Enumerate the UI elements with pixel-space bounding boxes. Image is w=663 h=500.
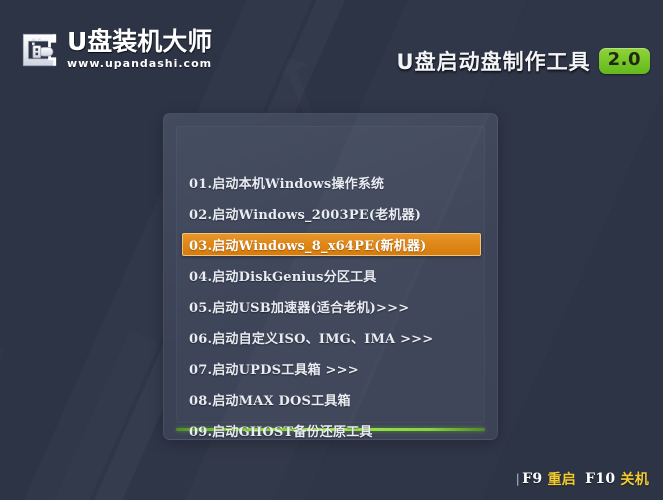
- boot-menu-item[interactable]: 04.启动DiskGenius分区工具: [182, 264, 481, 287]
- boot-menu-item[interactable]: 09.启动GHOST备份还原工具: [182, 419, 481, 440]
- reboot-key: F9: [522, 471, 542, 487]
- boot-menu-panel: 01.启动本机Windows操作系统02.启动Windows_2003PE(老机…: [163, 113, 498, 440]
- boot-menu-item[interactable]: 03.启动Windows_8_x64PE(新机器): [182, 233, 481, 256]
- boot-menu-list[interactable]: 01.启动本机Windows操作系统02.启动Windows_2003PE(老机…: [164, 114, 498, 440]
- product-title-group: U盘启动盘制作工具 2.0: [397, 46, 650, 76]
- version-badge: 2.0: [599, 48, 650, 74]
- boot-menu-item[interactable]: 01.启动本机Windows操作系统: [182, 171, 481, 194]
- footer-separator: |: [516, 472, 521, 486]
- shutdown-key: F10: [585, 471, 615, 487]
- boot-menu-screen: U盘装机大师 www.upandashi.com U盘启动盘制作工具 2.0 0…: [0, 0, 663, 500]
- usb-drive-icon: [18, 29, 60, 71]
- boot-menu-item[interactable]: 06.启动自定义ISO、IMG、IMA >>>: [182, 326, 481, 349]
- boot-menu-item[interactable]: 02.启动Windows_2003PE(老机器): [182, 202, 481, 225]
- boot-menu-item[interactable]: 08.启动MAX DOS工具箱: [182, 388, 481, 411]
- shutdown-label[interactable]: 关机: [620, 469, 649, 489]
- footer-hotkeys: | F9 重启 F10 关机: [516, 469, 650, 489]
- app-header: U盘装机大师 www.upandashi.com U盘启动盘制作工具 2.0: [0, 0, 663, 95]
- brand-name: U盘装机大师: [67, 29, 212, 55]
- page-title: U盘启动盘制作工具: [397, 46, 591, 76]
- brand-url: www.upandashi.com: [67, 57, 212, 70]
- boot-menu-item[interactable]: 05.启动USB加速器(适合老机)>>>: [182, 295, 481, 318]
- boot-menu-item[interactable]: 07.启动UPDS工具箱 >>>: [182, 357, 481, 380]
- reboot-label[interactable]: 重启: [547, 469, 576, 489]
- brand-lockup: U盘装机大师 www.upandashi.com: [18, 29, 212, 71]
